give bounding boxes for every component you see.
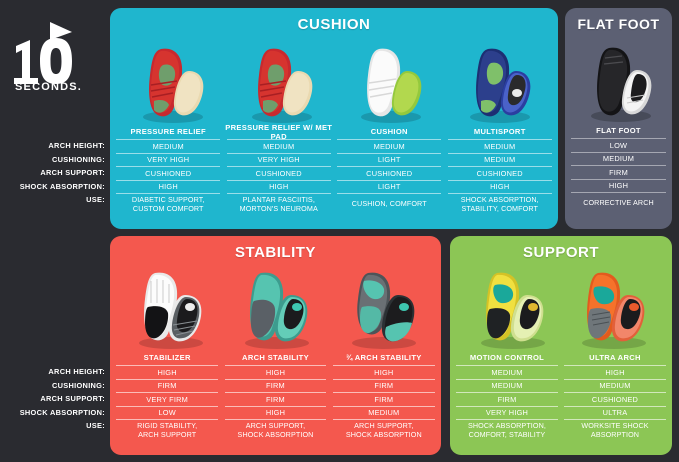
cell-use: CUSHION, COMFORT [334, 194, 445, 213]
cell-cushioning: VERY HIGH [224, 154, 335, 167]
product-name: FLAT FOOT [568, 124, 669, 138]
panel-stability: STABILITY [110, 236, 441, 455]
product-image-motion-control [465, 267, 557, 351]
product-name: CUSHION [334, 125, 445, 139]
panel-flat-foot: FLAT FOOT FLAT FOOT LOW [565, 8, 672, 229]
spec-column-flat-foot: FLAT FOOT LOW MEDIUM FIRM HIGH CORRECTIV… [568, 124, 669, 212]
product-name: ¾ ARCH STABILITY [330, 351, 438, 365]
cell-shock-absorption: ULTRA [561, 407, 669, 420]
cell-cushioning: LIGHT [334, 154, 445, 167]
panel-flat-foot-photos [565, 34, 672, 124]
panel-flat-foot-title: FLAT FOOT [565, 16, 672, 32]
product-image-pressure-relief [127, 41, 215, 125]
cell-arch-height: MEDIUM [334, 140, 445, 153]
cell-cushioning: VERY HIGH [113, 154, 224, 167]
row-label-cushioning: CUSHIONING: [0, 379, 110, 393]
cell-arch-height: MEDIUM [224, 140, 335, 153]
row-label-shock-absorption: SHOCK ABSORPTION: [0, 406, 110, 420]
row-label-shock-absorption: SHOCK ABSORPTION: [0, 180, 110, 194]
row-labels-top: ARCH HEIGHT: CUSHIONING: ARCH SUPPORT: S… [0, 139, 110, 213]
cell-cushioning: MEDIUM [445, 154, 556, 167]
spec-column-multisport: MULTISPORT MEDIUM MEDIUM CUSHIONED HIGH … [445, 125, 556, 213]
cell-arch-height: HIGH [561, 366, 669, 379]
cell-shock-absorption: LOW [113, 407, 221, 420]
product-name: ULTRA ARCH [561, 351, 669, 365]
product-name: MULTISPORT [445, 125, 556, 139]
cell-use: SHOCK ABSORPTION, COMFORT, STABILITY [453, 420, 561, 439]
cell-cushioning: MEDIUM [568, 153, 669, 166]
insole-comparison-chart: SECONDS. ARCH HEIGHT: CUSHIONING: ARCH S… [0, 0, 679, 462]
product-image-ultra-arch [566, 267, 658, 351]
panel-stability-spec-table: STABILIZER HIGH FIRM VERY FIRM LOW RIGID… [110, 351, 441, 439]
cell-shock-absorption: MEDIUM [330, 407, 438, 420]
spec-column-motion-control: MOTION CONTROL MEDIUM MEDIUM FIRM VERY H… [453, 351, 561, 439]
panel-support-photos [450, 263, 672, 351]
cell-use: WORKSITE SHOCK ABSORPTION [561, 420, 669, 439]
panel-cushion-title: CUSHION [110, 16, 558, 33]
cell-use: ARCH SUPPORT, SHOCK ABSORPTION [221, 420, 329, 439]
cell-use: ARCH SUPPORT, SHOCK ABSORPTION [330, 420, 438, 439]
spec-column-pressure-relief: PRESSURE RELIEF MEDIUM VERY HIGH CUSHION… [113, 125, 224, 213]
cell-cushioning: FIRM [330, 380, 438, 393]
spec-column-ultra-arch: ULTRA ARCH HIGH MEDIUM CUSHIONED ULTRA W… [561, 351, 669, 439]
panel-cushion: CUSHION [110, 8, 558, 229]
panel-flat-foot-spec-table: FLAT FOOT LOW MEDIUM FIRM HIGH CORRECTIV… [565, 124, 672, 212]
cell-shock-absorption: LIGHT [334, 181, 445, 194]
cell-shock-absorption: HIGH [221, 407, 329, 420]
cell-shock-absorption: HIGH [568, 180, 669, 193]
cell-arch-height: MEDIUM [113, 140, 224, 153]
spec-column-three-quarter-arch-stability: ¾ ARCH STABILITY HIGH FIRM FIRM MEDIUM A… [330, 351, 438, 439]
cell-arch-support: CUSHIONED [561, 393, 669, 406]
row-label-arch-height: ARCH HEIGHT: [0, 139, 110, 153]
product-image-pressure-relief-met-pad [236, 41, 324, 125]
cell-arch-support: CUSHIONED [113, 167, 224, 180]
cell-arch-height: MEDIUM [445, 140, 556, 153]
product-image-three-quarter-arch-stability [336, 267, 428, 351]
row-labels-bottom: ARCH HEIGHT: CUSHIONING: ARCH SUPPORT: S… [0, 365, 110, 439]
cell-arch-support: CUSHIONED [445, 167, 556, 180]
cell-arch-height: HIGH [330, 366, 438, 379]
cell-use: RIGID STABILITY, ARCH SUPPORT [113, 420, 221, 439]
panel-stability-photos [110, 263, 441, 351]
row-label-use: USE: [0, 193, 110, 213]
cell-arch-height: HIGH [113, 366, 221, 379]
cell-cushioning: MEDIUM [561, 380, 669, 393]
cell-use: CORRECTIVE ARCH [568, 193, 669, 212]
row-label-arch-height: ARCH HEIGHT: [0, 365, 110, 379]
cell-use: DIABETIC SUPPORT, CUSTOM COMFORT [113, 194, 224, 213]
panel-cushion-photos [110, 35, 558, 125]
panel-cushion-spec-table: PRESSURE RELIEF MEDIUM VERY HIGH CUSHION… [110, 125, 558, 213]
product-name: PRESSURE RELIEF W/ MET PAD [224, 125, 335, 139]
spec-column-cushion: CUSHION MEDIUM LIGHT CUSHIONED LIGHT CUS… [334, 125, 445, 213]
cell-arch-support: CUSHIONED [334, 167, 445, 180]
row-label-arch-support: ARCH SUPPORT: [0, 166, 110, 180]
panel-stability-title: STABILITY [110, 244, 441, 261]
panel-support-spec-table: MOTION CONTROL MEDIUM MEDIUM FIRM VERY H… [450, 351, 672, 439]
cell-use: SHOCK ABSORPTION, STABILITY, COMFORT [445, 194, 556, 213]
brand-wordmark: SECONDS. [15, 81, 82, 90]
product-image-cushion [345, 41, 433, 125]
cell-arch-support: FIRM [453, 393, 561, 406]
brand-logo: SECONDS. [10, 20, 102, 90]
product-image-stabilizer [123, 267, 215, 351]
cell-cushioning: FIRM [113, 380, 221, 393]
panel-support: SUPPORT [450, 236, 672, 455]
spec-column-pressure-relief-met-pad: PRESSURE RELIEF W/ MET PAD MEDIUM VERY H… [224, 125, 335, 213]
cell-shock-absorption: HIGH [445, 181, 556, 194]
cell-arch-height: HIGH [221, 366, 329, 379]
cell-arch-support: FIRM [568, 166, 669, 179]
product-name: MOTION CONTROL [453, 351, 561, 365]
cell-arch-height: MEDIUM [453, 366, 561, 379]
spec-column-stabilizer: STABILIZER HIGH FIRM VERY FIRM LOW RIGID… [113, 351, 221, 439]
row-label-use: USE: [0, 419, 110, 439]
cell-shock-absorption: HIGH [224, 181, 335, 194]
spec-column-arch-stability: ARCH STABILITY HIGH FIRM FIRM HIGH ARCH … [221, 351, 329, 439]
product-image-arch-stability [229, 267, 321, 351]
cell-shock-absorption: HIGH [113, 181, 224, 194]
product-image-multisport [454, 41, 542, 125]
product-name: ARCH STABILITY [221, 351, 329, 365]
cell-cushioning: MEDIUM [453, 380, 561, 393]
row-label-cushioning: CUSHIONING: [0, 153, 110, 167]
cell-arch-support: VERY FIRM [113, 393, 221, 406]
product-name: STABILIZER [113, 351, 221, 365]
cell-shock-absorption: VERY HIGH [453, 407, 561, 420]
product-image-flat-foot [575, 40, 663, 124]
product-name: PRESSURE RELIEF [113, 125, 224, 139]
cell-arch-height: LOW [568, 139, 669, 152]
panel-support-title: SUPPORT [450, 244, 672, 261]
cell-arch-support: FIRM [330, 393, 438, 406]
row-label-arch-support: ARCH SUPPORT: [0, 392, 110, 406]
cell-use: PLANTAR FASCIITIS, MORTON'S NEUROMA [224, 194, 335, 213]
cell-arch-support: FIRM [221, 393, 329, 406]
cell-cushioning: FIRM [221, 380, 329, 393]
cell-arch-support: CUSHIONED [224, 167, 335, 180]
